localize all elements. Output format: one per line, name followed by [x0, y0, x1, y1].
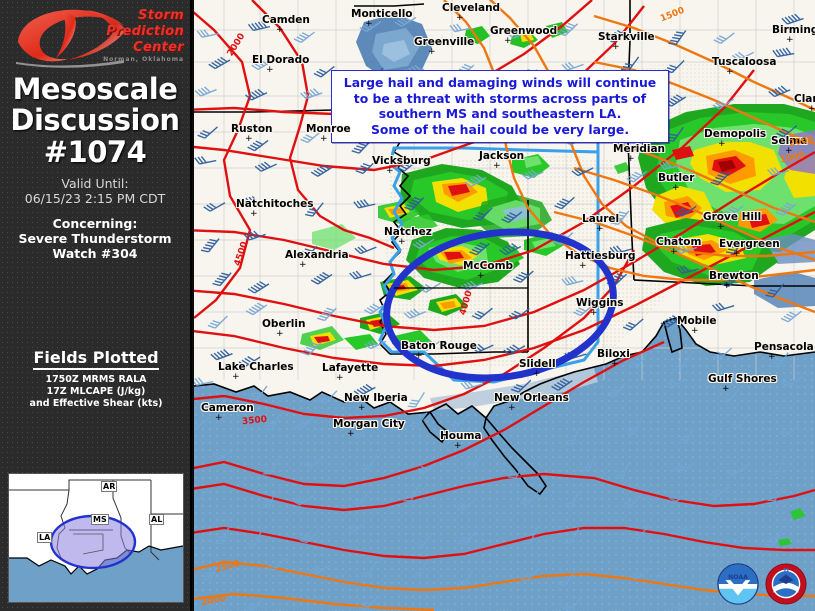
city-marker-icon: + [718, 141, 726, 147]
city-marker-icon: + [365, 21, 373, 27]
city-marker-icon: + [386, 168, 394, 174]
city-marker-icon: + [579, 263, 587, 269]
city-marker-icon: + [477, 273, 485, 279]
city-label: Cameron [201, 402, 254, 414]
concerning-line-2: Watch #304 [0, 246, 190, 261]
headline-line: southern MS and southeastern LA. [335, 106, 665, 122]
city-label: Evergreen [719, 238, 780, 250]
city-label: Jackson [479, 150, 524, 162]
city-label: Wiggins [576, 297, 624, 309]
valid-until-label: Valid Until: [0, 176, 190, 191]
field-item: and Effective Shear (kts) [0, 398, 192, 410]
title-line-1: Mesoscale [0, 74, 190, 105]
locator-map: AR MS LA AL [8, 473, 184, 603]
headline-line: to be a threat with storms across parts … [335, 91, 665, 107]
concerning-line-1: Severe Thunderstorm [0, 231, 190, 246]
city-label: Monroe [306, 123, 351, 135]
fields-plotted-heading: Fields Plotted [33, 348, 158, 370]
city-marker-icon: + [723, 283, 731, 289]
city-label: Oberlin [262, 318, 305, 330]
locator-state-label: LA [37, 532, 52, 543]
city-marker-icon: + [398, 239, 406, 245]
city-label: Chatom [656, 236, 701, 248]
headline-line: Large hail and damaging winds will conti… [335, 75, 665, 91]
city-marker-icon: + [428, 49, 436, 55]
city-label: Alexandria [285, 249, 349, 261]
noaa-seal-icon: NOAA [717, 563, 759, 605]
city-label: New Iberia [344, 392, 408, 404]
city-label: Vicksburg [372, 155, 431, 167]
city-label: Starkville [598, 31, 655, 43]
city-marker-icon: + [611, 361, 619, 367]
city-marker-icon: + [232, 374, 240, 380]
mesoscale-discussion-graphic: Storm Prediction Center Norman, Oklahoma… [0, 0, 815, 611]
headline-line: Some of the hail could be very large. [335, 122, 665, 138]
page-title: Mesoscale Discussion [0, 74, 190, 136]
concerning-label: Concerning: [0, 216, 190, 231]
city-label: Hattiesburg [565, 250, 636, 262]
field-item: 1750Z MRMS RALA [0, 374, 192, 386]
city-label: Lafayette [322, 362, 378, 374]
city-label: Grove Hill [703, 211, 761, 223]
city-marker-icon: + [493, 163, 501, 169]
city-marker-icon: + [347, 431, 355, 437]
city-marker-icon: + [717, 224, 725, 230]
city-marker-icon: + [722, 386, 730, 392]
city-label: Tuscaloosa [712, 56, 776, 68]
city-marker-icon: + [786, 37, 794, 43]
logo-sub-location: Norman, Oklahoma [103, 56, 184, 63]
city-marker-icon: + [533, 371, 541, 377]
discussion-number: #1074 [0, 136, 190, 169]
valid-until-time: 06/15/23 2:15 PM CDT [0, 191, 190, 206]
locator-map-svg [9, 474, 183, 602]
city-marker-icon: + [415, 353, 423, 359]
city-label: Natchez [384, 226, 432, 238]
city-label: Lake Charles [218, 361, 294, 373]
city-label: New Orleans [494, 392, 569, 404]
city-marker-icon: + [299, 262, 307, 268]
city-marker-icon: + [320, 136, 328, 142]
locator-state-label: AR [101, 481, 117, 492]
city-marker-icon: + [276, 331, 284, 337]
city-marker-icon: + [250, 211, 258, 217]
nws-seal-icon [765, 563, 807, 605]
city-label: Baton Rouge [401, 340, 477, 352]
city-label: Cleveland [442, 2, 500, 14]
city-label: Natchitoches [236, 198, 314, 210]
city-label: Greenwood [490, 25, 557, 37]
locator-state-label: AL [149, 514, 164, 525]
spc-logo: Storm Prediction Center Norman, Oklahoma [0, 0, 192, 72]
title-line-2: Discussion [0, 105, 190, 136]
city-marker-icon: + [726, 69, 734, 75]
city-label: McComb [463, 260, 513, 272]
city-marker-icon: + [590, 310, 598, 316]
city-marker-icon: + [336, 375, 344, 381]
city-label: Demopolis [704, 128, 766, 140]
city-marker-icon: + [266, 67, 274, 73]
city-marker-icon: + [733, 251, 741, 257]
fields-plotted-block: Fields Plotted 1750Z MRMS RALA 17Z MLCAP… [0, 348, 192, 410]
city-label: Brewton [709, 270, 759, 282]
city-marker-icon: + [808, 106, 815, 112]
city-marker-icon: + [245, 136, 253, 142]
sidebar-panel: Storm Prediction Center Norman, Oklahoma… [0, 0, 192, 611]
logo-line-storm: Storm [138, 8, 184, 23]
field-item: 17Z MLCAPE (J/kg) [0, 386, 192, 398]
fields-plotted-list: 1750Z MRMS RALA 17Z MLCAPE (J/kg) and Ef… [0, 374, 192, 410]
city-marker-icon: + [454, 443, 462, 449]
city-marker-icon: + [456, 15, 464, 21]
logo-line-prediction: Prediction [106, 24, 184, 39]
agency-seals: NOAA [717, 563, 807, 605]
city-marker-icon: + [768, 354, 776, 360]
valid-until-block: Valid Until: 06/15/23 2:15 PM CDT [0, 176, 190, 206]
city-label: Monticello [351, 8, 413, 20]
headline-textbox: Large hail and damaging winds will conti… [331, 70, 669, 143]
city-label: Meridian [613, 143, 665, 155]
city-marker-icon: + [691, 328, 699, 334]
city-marker-icon: + [670, 249, 678, 255]
city-marker-icon: + [672, 185, 680, 191]
city-label: El Dorado [252, 54, 309, 66]
city-marker-icon: + [612, 44, 620, 50]
city-marker-icon: + [504, 38, 512, 44]
city-marker-icon: + [596, 226, 604, 232]
city-marker-icon: + [276, 27, 284, 33]
city-label: Morgan City [333, 418, 405, 430]
city-label: Gulf Shores [708, 373, 777, 385]
locator-state-label: MS [91, 514, 109, 525]
city-marker-icon: + [627, 156, 635, 162]
svg-text:NOAA: NOAA [728, 574, 748, 581]
weather-map[interactable]: Large hail and damaging winds will conti… [194, 0, 815, 611]
city-marker-icon: + [358, 405, 366, 411]
logo-line-center: Center [133, 40, 184, 55]
city-marker-icon: + [215, 415, 223, 421]
concerning-block: Concerning: Severe Thunderstorm Watch #3… [0, 216, 190, 261]
city-marker-icon: + [508, 405, 516, 411]
city-label: Camden [262, 14, 310, 26]
city-label: Pensacola [754, 341, 814, 353]
city-label: Greenville [414, 36, 474, 48]
